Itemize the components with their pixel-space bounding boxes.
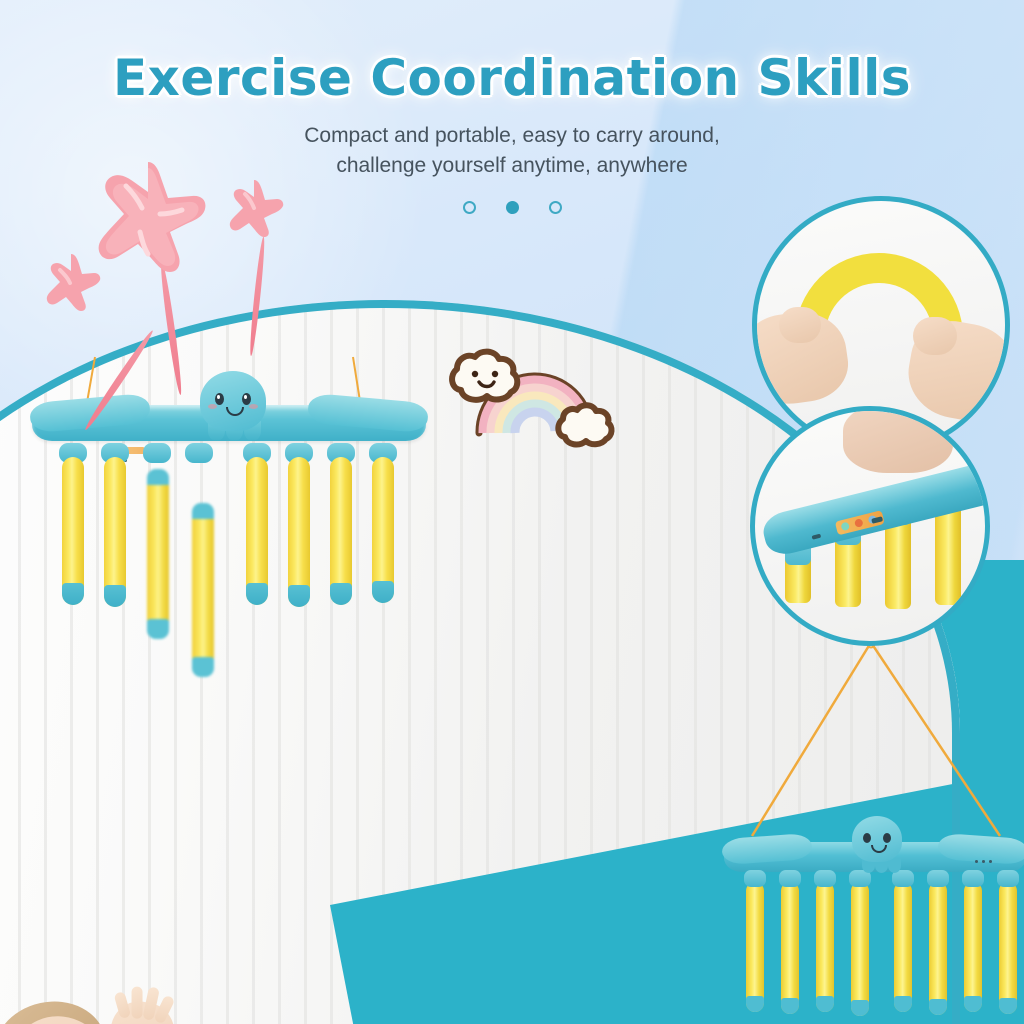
falling-stick-1	[147, 469, 169, 639]
carousel-dot-2[interactable]	[506, 201, 519, 214]
bottom-toy-strings	[716, 640, 1024, 850]
rainbow-with-clouds	[437, 345, 637, 450]
bottom-stick-4[interactable]	[851, 882, 869, 1016]
header: Exercise Coordination Skills Compact and…	[0, 0, 1024, 214]
carousel-dots[interactable]	[0, 201, 1024, 214]
page-subtitle: Compact and portable, easy to carry arou…	[0, 121, 1024, 182]
stick-7[interactable]	[330, 457, 352, 605]
stick-8[interactable]	[372, 457, 394, 603]
star-trail-left	[83, 329, 156, 432]
girl-right-hand	[105, 997, 179, 1024]
bottom-stick-8[interactable]	[999, 882, 1017, 1014]
subtitle-line-1: Compact and portable, easy to carry arou…	[0, 121, 1024, 151]
hanging-octopus-toy	[716, 830, 1024, 1024]
carousel-dot-1[interactable]	[463, 201, 476, 214]
falling-stick-2	[192, 503, 214, 677]
star-small-left	[40, 250, 102, 312]
star-trail-right	[248, 236, 267, 356]
stick-5[interactable]	[246, 457, 268, 605]
page-title: Exercise Coordination Skills	[0, 52, 1024, 105]
cloud-left-icon	[452, 352, 517, 400]
stick-1[interactable]	[62, 457, 84, 605]
bottom-stick-7[interactable]	[964, 882, 982, 1012]
bottom-stick-5[interactable]	[894, 882, 912, 1012]
bottom-stick-6[interactable]	[929, 882, 947, 1015]
stick-2[interactable]	[104, 457, 126, 607]
inset-control-bar-closeup	[750, 406, 990, 646]
bottom-toy-leds	[975, 860, 992, 863]
carousel-dot-3[interactable]	[549, 201, 562, 214]
bottom-stick-2[interactable]	[781, 882, 799, 1014]
hand-left-finger	[779, 307, 821, 343]
subtitle-line-2: challenge yourself anytime, anywhere	[0, 151, 1024, 181]
inset-control-panel[interactable]	[835, 510, 885, 535]
stick-6[interactable]	[288, 457, 310, 607]
bottom-stick-3[interactable]	[816, 882, 834, 1012]
star-trail-center	[158, 261, 184, 396]
cloud-right-icon	[558, 405, 611, 444]
banner-stage: Exercise Coordination Skills Compact and…	[0, 0, 1024, 1024]
hand-right-finger	[913, 317, 957, 355]
inset-b-arm	[843, 406, 953, 473]
inset-port-1	[812, 534, 822, 540]
bottom-stick-1[interactable]	[746, 882, 764, 1012]
girl-figure	[0, 940, 218, 1024]
